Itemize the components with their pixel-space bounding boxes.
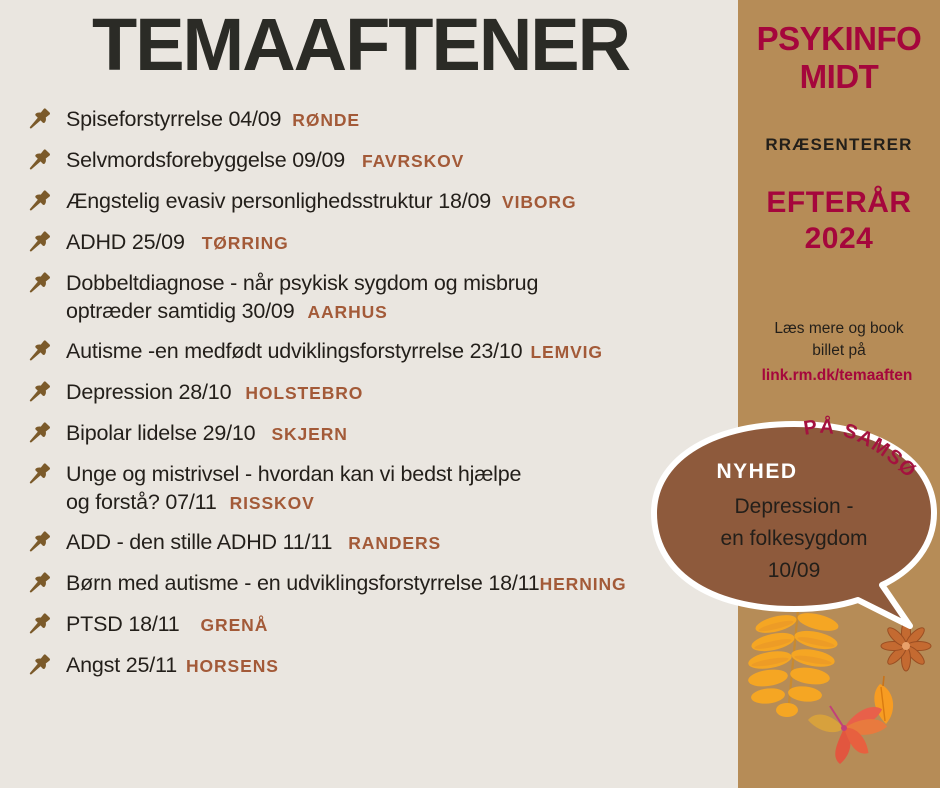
brand-title: PSYKINFO MIDT (738, 20, 940, 97)
event-title: Børn med autisme - en udviklingsforstyrr… (66, 571, 540, 595)
list-item: Dobbeltdiagnose - når psykisk sygdom og … (26, 269, 796, 326)
pa-samso-text: PÅ SAMSØ (802, 414, 921, 483)
list-item: Depression 28/10HOLSTEBRO (26, 378, 796, 408)
list-item: Angst 25/11HORSENS (26, 651, 796, 681)
event-title: Unge og mistrivsel - hvordan kan vi beds… (66, 462, 521, 486)
event-city: TØRRING (202, 233, 289, 253)
event-title-line2: optræder samtidig 30/09AARHUS (66, 297, 796, 325)
event-title: PTSD 18/11 (66, 612, 180, 636)
event-city: RØNDE (292, 110, 360, 130)
event-city: HORSENS (186, 656, 279, 676)
event-city: RANDERS (348, 533, 441, 553)
pushpin-icon (28, 148, 54, 174)
announcement-bubble: NYHED Depression - en folkesygdom 10/09 … (648, 418, 940, 650)
pushpin-icon (28, 462, 54, 488)
event-city: GRENÅ (201, 615, 269, 635)
event-title: Angst 25/11 (66, 653, 177, 677)
list-item: Selvmordsforebyggelse 09/09FAVRSKOV (26, 146, 796, 176)
list-item: Ængstelig evasiv personlighedsstruktur 1… (26, 187, 796, 217)
svg-text:PÅ SAMSØ: PÅ SAMSØ (802, 414, 921, 483)
list-item: Autisme -en medfødt udviklingsforstyrrel… (26, 337, 796, 367)
booking-line2: billet på (812, 342, 865, 359)
pushpin-icon (28, 380, 54, 406)
event-city: RISSKOV (230, 493, 315, 513)
pushpin-icon (28, 421, 54, 447)
red-compound-leaf (808, 704, 888, 764)
event-city: LEMVIG (530, 342, 603, 362)
poster-canvas: PSYKINFO MIDT RRÆSENTERER EFTERÅR 2024 L… (0, 0, 940, 788)
pushpin-icon (28, 339, 54, 365)
event-title: Autisme -en medfødt udviklingsforstyrrel… (66, 339, 522, 363)
event-city: VIBORG (502, 192, 576, 212)
event-title: Spiseforstyrrelse 04/09 (66, 107, 281, 131)
pushpin-icon (28, 271, 54, 297)
event-title-line2-text: optræder samtidig 30/09 (66, 299, 294, 323)
event-title-line2-text: og forstå? 07/11 (66, 490, 217, 514)
event-title: Selvmordsforebyggelse 09/09 (66, 148, 345, 172)
pushpin-icon (28, 653, 54, 679)
pushpin-icon (28, 571, 54, 597)
brand-line1: PSYKINFO (757, 20, 922, 57)
list-item: ADHD 25/09TØRRING (26, 228, 796, 258)
pushpin-icon (28, 230, 54, 256)
pa-samso-curved-label: PÅ SAMSØ (798, 418, 940, 514)
event-title: Depression 28/10 (66, 380, 231, 404)
pushpin-icon (28, 530, 54, 556)
event-title: Bipolar lidelse 29/10 (66, 421, 255, 445)
pushpin-icon (28, 612, 54, 638)
event-title: Ængstelig evasiv personlighedsstruktur 1… (66, 189, 491, 213)
event-city: HERNING (540, 574, 627, 594)
pushpin-icon (28, 107, 54, 133)
announcement-line2: en folkesygdom (720, 527, 867, 550)
orange-leaf (874, 676, 893, 724)
event-title: ADHD 25/09 (66, 230, 185, 254)
announcement-line3: 10/09 (768, 559, 821, 582)
event-city: AARHUS (307, 302, 387, 322)
pushpin-icon (28, 189, 54, 215)
brand-line2: MIDT (738, 58, 940, 96)
event-city: SKJERN (271, 424, 347, 444)
page-title: TEMAAFTENER (92, 8, 692, 82)
event-city: HOLSTEBRO (245, 383, 363, 403)
event-city: FAVRSKOV (362, 151, 464, 171)
event-title: Dobbeltdiagnose - når psykisk sygdom og … (66, 271, 538, 295)
event-title: ADD - den stille ADHD 11/11 (66, 530, 332, 554)
list-item: Spiseforstyrrelse 04/09RØNDE (26, 105, 796, 135)
